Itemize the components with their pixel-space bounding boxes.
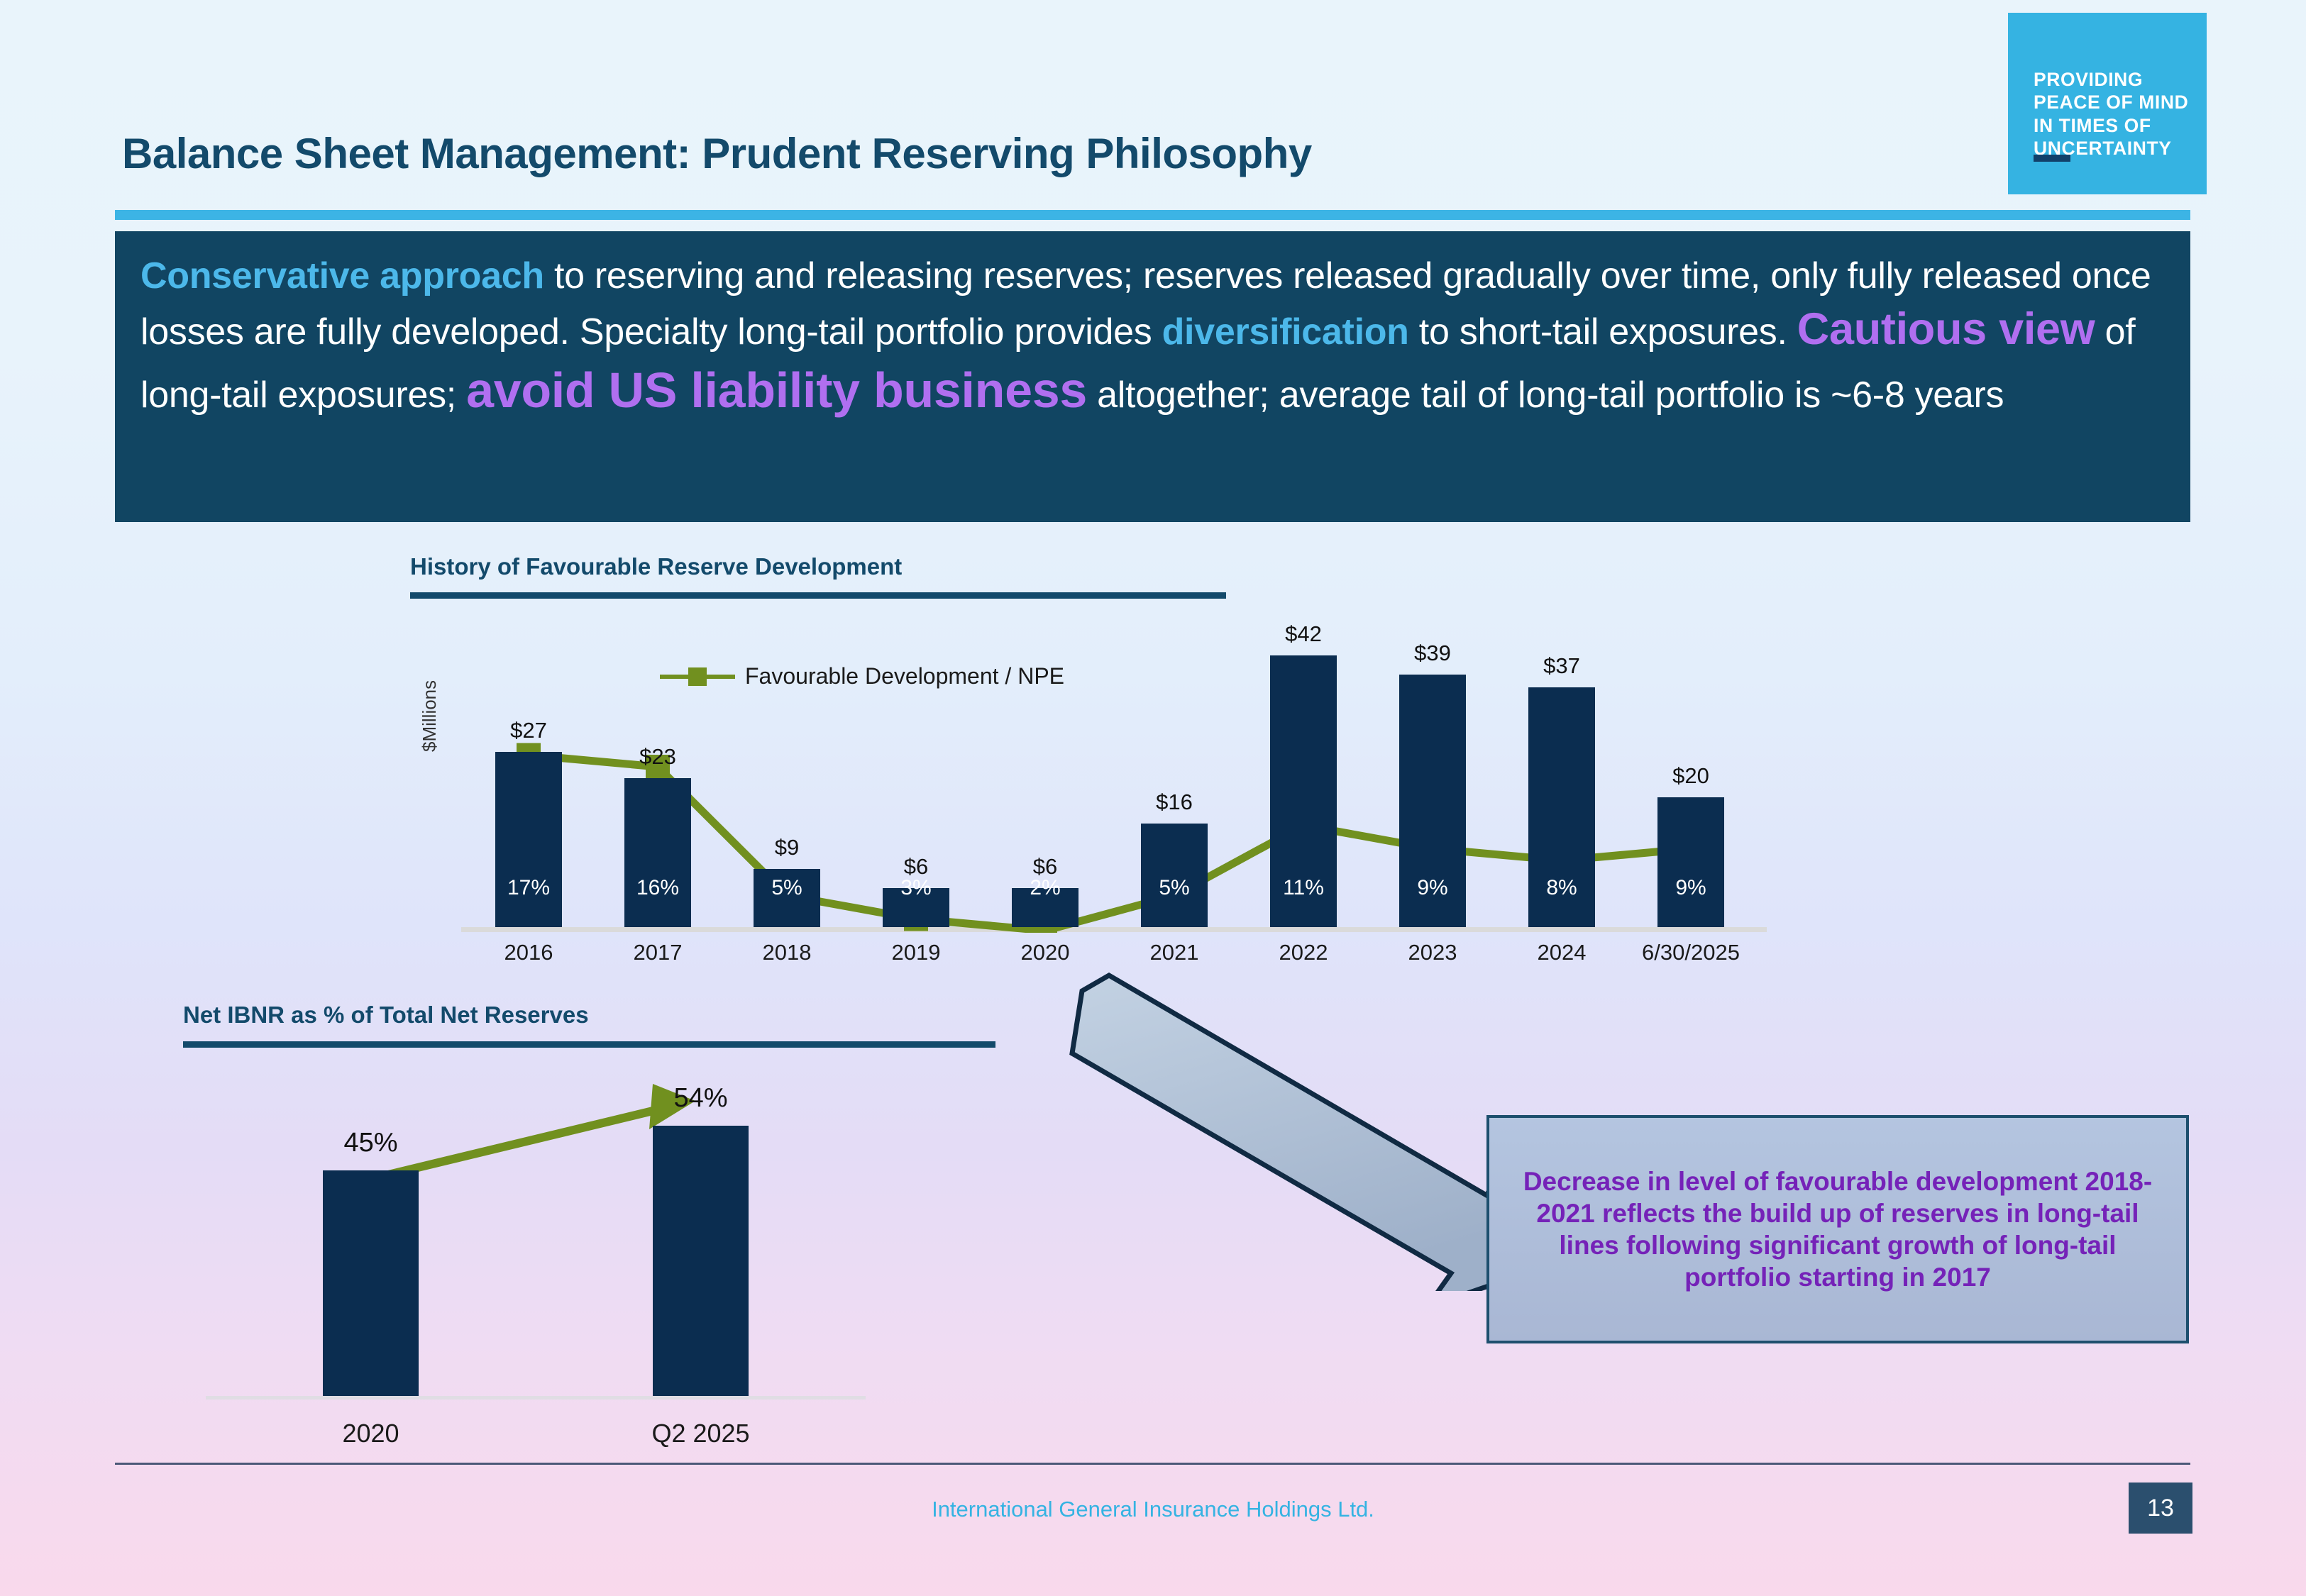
chart1-ratio-label: 2% — [1012, 876, 1078, 900]
chart2-x-tick-label: 2020 — [265, 1419, 478, 1448]
chart2-title: Net IBNR as % of Total Net Reserves — [183, 1002, 589, 1029]
chart1-x-tick-label: 2020 — [974, 940, 1116, 965]
chart1-x-tick-label: 2017 — [587, 940, 729, 965]
chart1-x-tick-label: 2016 — [458, 940, 600, 965]
chart1-bar-value-label: $16 — [1118, 789, 1231, 815]
chart1-x-tick-label: 2018 — [716, 940, 858, 965]
chart1-x-axis-line — [461, 927, 1767, 932]
chart1-x-tick-label: 2022 — [1232, 940, 1374, 965]
callout-text: Decrease in level of favourable developm… — [1518, 1165, 2158, 1294]
chart1-ratio-label: 17% — [495, 876, 562, 900]
chart1-x-tick-label: 2023 — [1362, 940, 1504, 965]
chart2-x-tick-label: Q2 2025 — [595, 1419, 807, 1448]
chart1-x-tick-label: 2021 — [1103, 940, 1245, 965]
company-logo: PROVIDING PEACE OF MIND IN TIMES OF UNCE… — [2008, 13, 2207, 194]
chart2-bar — [653, 1126, 749, 1396]
chart1-bar-value-label: $27 — [472, 718, 585, 743]
chart1-ratio-label: 5% — [1141, 876, 1208, 900]
chart1-bar-value-label: $9 — [730, 835, 844, 860]
chart1-bar — [624, 778, 691, 927]
chart1-bar-value-label: $42 — [1247, 621, 1360, 647]
logo-line-2: PEACE OF MIND — [2034, 91, 2188, 113]
chart1-bar-value-label: $20 — [1634, 763, 1748, 789]
chart2-bar-value-label: 54% — [609, 1083, 793, 1114]
chart1-title: History of Favourable Reserve Developmen… — [410, 553, 902, 580]
page-number-badge: 13 — [2129, 1483, 2192, 1534]
chart1-x-tick-label: 6/30/2025 — [1620, 940, 1762, 965]
banner-highlight-avoid-us-liability: avoid US liability business — [466, 362, 1087, 418]
chart2-title-rule — [183, 1041, 995, 1048]
chart1-bar — [1657, 797, 1724, 927]
logo-line-3: IN TIMES OF — [2034, 114, 2188, 137]
banner-body-2: to short-tail exposures. — [1409, 311, 1797, 353]
logo-tagline: PROVIDING PEACE OF MIND IN TIMES OF UNCE… — [2034, 68, 2188, 160]
logo-underline-dash — [2034, 155, 2070, 162]
large-pointing-arrow-icon — [1029, 965, 1540, 1291]
chart1-x-tick-label: 2024 — [1491, 940, 1633, 965]
callout-box: Decrease in level of favourable developm… — [1486, 1115, 2189, 1343]
banner-text: Conservative approach to reserving and r… — [140, 253, 2165, 423]
chart2-bar — [323, 1170, 419, 1396]
chart1-bar-value-label: $23 — [601, 744, 715, 770]
chart1-ratio-label: 16% — [624, 876, 691, 900]
chart1-bar-value-label: $37 — [1505, 653, 1618, 679]
chart1-ratio-label: 3% — [883, 876, 949, 900]
banner-highlight-diversification: diversification — [1162, 311, 1409, 353]
chart1-ratio-label: 9% — [1657, 876, 1724, 900]
title-accent-rule — [115, 210, 2190, 220]
chart1-y-axis-label: $Millions — [419, 680, 441, 752]
chart2-bar-value-label: 45% — [279, 1128, 463, 1158]
chart1-title-rule — [410, 592, 1226, 599]
chart1-bar — [495, 752, 562, 927]
banner-highlight-cautious-view: Cautious view — [1797, 304, 2095, 354]
banner-body-4: altogether; average tail of long-tail po… — [1087, 375, 2004, 416]
chart1-bar-value-label: $39 — [1376, 641, 1489, 666]
page-title: Balance Sheet Management: Prudent Reserv… — [122, 129, 1312, 178]
chart1-ratio-label: 8% — [1528, 876, 1595, 900]
banner-highlight-conservative: Conservative approach — [140, 255, 544, 297]
key-message-banner: Conservative approach to reserving and r… — [115, 231, 2190, 522]
chart2-x-axis-line — [206, 1396, 866, 1400]
footer-company-name: International General Insurance Holdings… — [0, 1497, 2306, 1522]
footer-divider — [115, 1463, 2190, 1465]
chart1-x-tick-label: 2019 — [845, 940, 987, 965]
logo-line-1: PROVIDING — [2034, 68, 2188, 91]
chart1-ratio-label: 9% — [1399, 876, 1466, 900]
chart1-bar — [1141, 824, 1208, 927]
chart1-ratio-label: 11% — [1270, 876, 1337, 900]
chart1-ratio-label: 5% — [754, 876, 820, 900]
